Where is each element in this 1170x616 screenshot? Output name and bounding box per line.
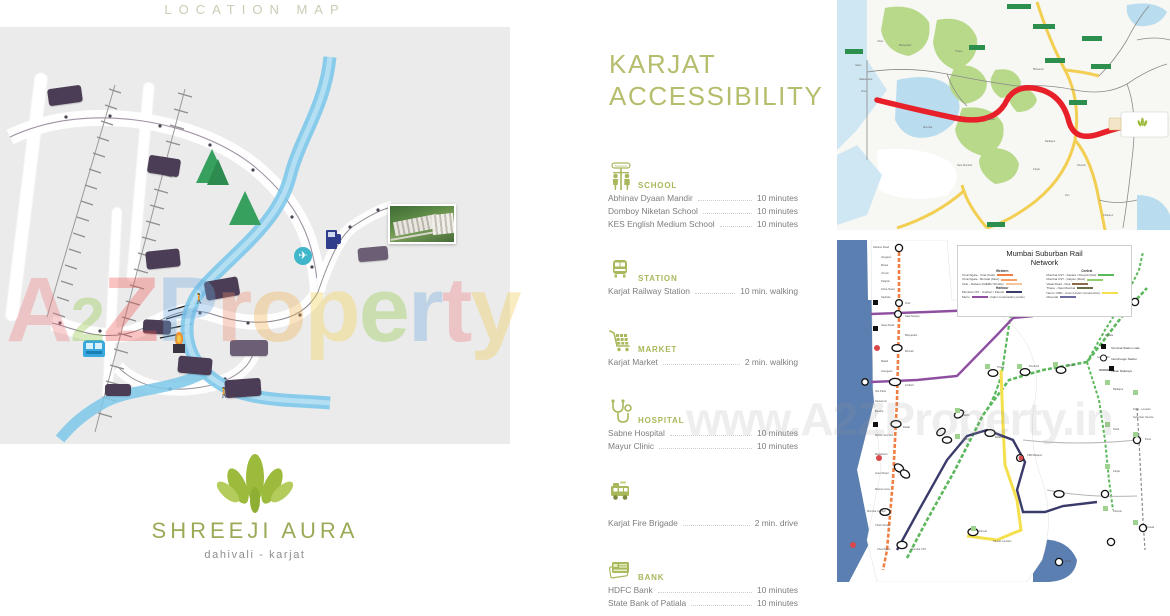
poi-time: 10 minutes: [757, 584, 798, 597]
tree-icon: [207, 159, 229, 185]
svg-text:Khalapur: Khalapur: [1103, 213, 1114, 217]
svg-text:Dahanu Road: Dahanu Road: [873, 245, 890, 249]
leader-dots: [703, 213, 752, 214]
svg-text:Navi Mumbai: Navi Mumbai: [957, 163, 973, 167]
rail-legend-title-line2: Network: [962, 258, 1127, 267]
svg-text:Santacruz: Santacruz: [875, 399, 887, 403]
poi-name: HDFC Bank: [608, 584, 653, 597]
building-block: [105, 384, 131, 396]
people-marker-icon: 🚶: [218, 389, 230, 399]
credit-card-icon: [608, 554, 634, 584]
leader-dots: [683, 525, 750, 526]
svg-text:Badlapur: Badlapur: [1113, 387, 1124, 391]
legend-swatch: [1001, 279, 1017, 281]
leader-dots: [698, 200, 752, 201]
legend-entry: Metro Under construction portion: [962, 295, 1043, 299]
project-name: SHREEJI AURA: [0, 518, 510, 544]
rail-legend-title: Mumbai Suburban Rail Network: [962, 249, 1127, 267]
svg-text:Boisar: Boisar: [881, 263, 888, 267]
shopping-cart-icon: [608, 326, 634, 356]
svg-text:Dombivli: Dombivli: [1029, 364, 1039, 368]
poi-name: Karjat Railway Station: [608, 285, 690, 298]
poi-name: KES English Medium School: [608, 218, 715, 231]
accessibility-title: KARJAT ACCESSIBILITY: [609, 48, 823, 112]
group-label: MARKET: [638, 345, 677, 356]
leaf-logo-icon: [0, 452, 510, 514]
stethoscope-icon: [608, 397, 634, 427]
svg-text:Bandra: Bandra: [875, 409, 884, 413]
leader-dots: [670, 435, 752, 436]
location-map-panel: LOCATION MAP: [0, 0, 560, 582]
accessibility-list: SCHOOL SCHOOL Abhinav Dyaan Mandir: [608, 160, 798, 616]
building-block: [145, 248, 181, 269]
svg-text:Vasai Road: Vasai Road: [881, 323, 895, 327]
svg-text:Belapur: Belapur: [995, 435, 1004, 439]
accessibility-panel: KARJAT ACCESSIBILITY SCHOOL: [560, 0, 837, 582]
group-header: STATION: [608, 253, 798, 285]
svg-text:Virar: Virar: [905, 301, 911, 305]
accessibility-group-bank: BANK HDFC Bank 10 minutes State Bank of …: [608, 552, 798, 610]
airport-icon: ✈: [294, 247, 312, 265]
svg-text:Kelve Road: Kelve Road: [881, 287, 895, 291]
svg-text:Titwala: Titwala: [1105, 333, 1114, 337]
rail-legend-title-line1: Mumbai Suburban Rail: [962, 249, 1127, 258]
svg-text:Vashi: Vashi: [963, 413, 970, 417]
svg-text:Interchange Station: Interchange Station: [1111, 357, 1137, 361]
svg-text:Churchgate: Churchgate: [877, 547, 891, 551]
svg-text:Terminal Station code: Terminal Station code: [1111, 346, 1140, 350]
svg-text:Grant Road: Grant Road: [875, 471, 889, 475]
svg-text:Pune: Pune: [1145, 437, 1152, 441]
mumbai-karjat-road-map: UttanBhayander VasaiNalasopara VirarThan…: [837, 0, 1170, 230]
svg-text:Mumbai CST: Mumbai CST: [911, 547, 927, 551]
poi-time: 10 minutes: [757, 205, 798, 218]
svg-text:Bhayander: Bhayander: [899, 43, 912, 47]
svg-text:Mahim Junction: Mahim Junction: [875, 433, 894, 437]
school-icon: SCHOOL: [608, 162, 634, 192]
accessibility-title-line1: KARJAT: [609, 48, 823, 80]
group-header: SCHOOL SCHOOL: [608, 160, 798, 192]
mumbai-suburban-rail-map: Dahanu RoadVangaon BoisarUmroli PalgharK…: [837, 240, 1170, 582]
maps-panel: UttanBhayander VasaiNalasopara VirarThan…: [837, 0, 1170, 582]
poi-time: 10 minutes: [757, 218, 798, 231]
legend-swatch: [1077, 287, 1093, 289]
accessibility-row: KES English Medium School 10 minutes: [608, 218, 798, 231]
legend-entry-label: Under construction portion: [990, 295, 1025, 299]
poi-time: 10 min. walking: [740, 285, 798, 298]
legend-entry: Monorail: [1047, 295, 1128, 299]
svg-text:Badlapur: Badlapur: [1045, 139, 1056, 143]
svg-text:Palghar: Palghar: [881, 279, 890, 283]
svg-text:SCHOOL: SCHOOL: [615, 164, 628, 168]
accessibility-row: Sabne Hospital 10 minutes: [608, 427, 798, 440]
legend-entry-label: Metro: [962, 295, 970, 299]
leader-dots: [658, 592, 752, 593]
legend-entry-label: Monorail: [1047, 295, 1059, 299]
poi-name: Karjat Market: [608, 356, 658, 369]
svg-text:Kalyan: Kalyan: [987, 117, 995, 121]
legend-column-central: Central Mumbai CST - Kasara / Khopoli (f…: [1047, 269, 1128, 299]
leader-dots: [691, 605, 752, 606]
legend-swatch: [1006, 283, 1022, 285]
svg-text:Khopoli: Khopoli: [1077, 163, 1086, 167]
group-header: BANK: [608, 552, 798, 584]
svg-text:Nerul: Nerul: [963, 437, 970, 441]
accessibility-row: Abhinav Dyaan Mandir 10 minutes: [608, 192, 798, 205]
svg-text:Pen: Pen: [1065, 193, 1070, 197]
map-graphics: ✈: [0, 27, 510, 444]
poi-time: 10 minutes: [757, 440, 798, 453]
building-block: [177, 356, 212, 376]
poi-name: State Bank of Patiala: [608, 597, 686, 610]
svg-text:Panvel Junction: Panvel Junction: [993, 539, 1012, 543]
svg-text:Nalasopara: Nalasopara: [859, 77, 873, 81]
accessibility-row: Karjat Fire Brigade 2 min. drive: [608, 517, 798, 530]
poi-name: Sabne Hospital: [608, 427, 665, 440]
svg-text:Borivali: Borivali: [905, 349, 914, 353]
accessibility-title-line2: ACCESSIBILITY: [609, 80, 823, 112]
location-map-title: LOCATION MAP: [0, 2, 510, 17]
accessibility-row: HDFC Bank 10 minutes: [608, 584, 798, 597]
leader-dots: [695, 293, 735, 294]
legend-column-western: Western Churchgate - Virar (Fast) Church…: [962, 269, 1043, 299]
location-map-canvas: ✈: [0, 27, 510, 444]
legend-swatch: [1098, 274, 1114, 276]
accessibility-group-market: MARKET Karjat Market 2 min. walking: [608, 324, 798, 369]
svg-text:Suburban Service: Suburban Service: [1133, 415, 1154, 419]
svg-text:Mumbai: Mumbai: [923, 125, 933, 129]
svg-text:Thane: Thane: [997, 365, 1005, 369]
svg-text:Roha: Roha: [1065, 559, 1072, 563]
svg-text:Karjat: Karjat: [1033, 167, 1040, 171]
fuel-station-icon: [326, 227, 343, 249]
svg-text:Vile Parle: Vile Parle: [875, 389, 887, 393]
group-label: BANK: [638, 573, 664, 584]
legend-swatch: [1087, 279, 1103, 281]
svg-text:Vasai: Vasai: [855, 63, 862, 67]
legend-swatch: [997, 274, 1013, 276]
train-station-icon: [608, 255, 634, 285]
svg-text:Bhiwandi: Bhiwandi: [1033, 67, 1044, 71]
svg-text:Karjat: Karjat: [1113, 469, 1120, 473]
accessibility-group-school: SCHOOL SCHOOL Abhinav Dyaan Mandir: [608, 160, 798, 231]
svg-text:Malad: Malad: [881, 359, 889, 363]
poi-time: 10 minutes: [757, 427, 798, 440]
accessibility-row: State Bank of Patiala 10 minutes: [608, 597, 798, 610]
svg-text:Neral: Neral: [1113, 427, 1120, 431]
poi-time: 10 minutes: [757, 597, 798, 610]
group-header: HOSPITAL: [608, 395, 798, 427]
legend-swatch: [1006, 291, 1022, 293]
group-label: SCHOOL: [638, 181, 677, 192]
accessibility-group-fire: Karjat Fire Brigade 2 min. drive: [608, 475, 798, 530]
legend-swatch: [1060, 296, 1076, 298]
svg-text:Andheri: Andheri: [905, 383, 914, 387]
leader-dots: [663, 364, 740, 365]
railway-station-icon: [83, 340, 105, 360]
building-block: [357, 246, 388, 263]
legend-swatch: [1102, 292, 1118, 294]
poi-time: 10 minutes: [757, 192, 798, 205]
svg-text:Umroli: Umroli: [881, 271, 889, 275]
accessibility-row: Mayur Clinic 10 minutes: [608, 440, 798, 453]
svg-text:CBD Belapur: CBD Belapur: [1027, 453, 1042, 457]
people-marker-icon: 🚶: [193, 295, 205, 305]
svg-text:Lonavla: Lonavla: [1145, 525, 1155, 529]
project-logo: SHREEJI AURA dahivali - karjat: [0, 452, 510, 561]
poi-name: Karjat Fire Brigade: [608, 517, 678, 530]
group-label: HOSPITAL: [638, 416, 684, 427]
poi-name: Abhinav Dyaan Mandir: [608, 192, 693, 205]
svg-text:Mahalaxmi: Mahalaxmi: [875, 452, 888, 456]
accessibility-group-hospital: HOSPITAL Sabne Hospital 10 minutes Mayur…: [608, 395, 798, 453]
accessibility-row: Karjat Market 2 min. walking: [608, 356, 798, 369]
temple-icon: [172, 332, 186, 354]
building-block: [143, 319, 172, 334]
accessibility-group-station: STATION Karjat Railway Station 10 min. w…: [608, 253, 798, 298]
svg-text:Vangaon: Vangaon: [881, 255, 892, 259]
svg-text:Thane: Thane: [955, 49, 963, 53]
svg-text:Kalyan: Kalyan: [1067, 363, 1075, 367]
svg-text:Indian Railways: Indian Railways: [1111, 369, 1133, 373]
poi-time: 2 min. drive: [755, 517, 798, 530]
tree-icon: [229, 191, 261, 225]
poi-name: Domboy Niketan School: [608, 205, 698, 218]
svg-text:Khopoli: Khopoli: [1113, 509, 1122, 513]
legend-swatch: [972, 296, 988, 298]
svg-text:Bhayander: Bhayander: [905, 333, 918, 337]
svg-text:Charni Road: Charni Road: [875, 523, 890, 527]
brochure-page: LOCATION MAP: [0, 0, 1170, 582]
project-tagline: dahivali - karjat: [0, 549, 510, 561]
fire-truck-icon: [608, 477, 634, 507]
group-header: [608, 475, 798, 507]
legend-columns: Western Churchgate - Virar (Fast) Church…: [962, 269, 1127, 299]
legend-swatch: [1072, 283, 1088, 285]
group-label: STATION: [638, 274, 678, 285]
project-photo-inset: [388, 204, 456, 244]
svg-text:Mumbai Central: Mumbai Central: [867, 509, 886, 513]
svg-text:Pune - Lonavla: Pune - Lonavla: [1133, 407, 1151, 411]
poi-time: 2 min. walking: [745, 356, 798, 369]
svg-text:Panvel: Panvel: [979, 529, 987, 533]
building-block: [230, 340, 268, 356]
accessibility-row: Domboy Niketan School 10 minutes: [608, 205, 798, 218]
poi-name: Mayur Clinic: [608, 440, 654, 453]
leader-dots: [720, 226, 752, 227]
svg-text:Dadar: Dadar: [903, 425, 910, 429]
svg-text:Saphale: Saphale: [881, 295, 891, 299]
svg-text:Goregaon: Goregaon: [881, 369, 893, 373]
svg-text:Uttan: Uttan: [877, 39, 884, 43]
leader-dots: [659, 448, 752, 449]
accessibility-row: Karjat Railway Station 10 min. walking: [608, 285, 798, 298]
group-header: MARKET: [608, 324, 798, 356]
svg-text:Nala Sopara: Nala Sopara: [905, 314, 920, 318]
svg-text:Marine Lines: Marine Lines: [875, 487, 891, 491]
svg-text:Virar: Virar: [861, 89, 867, 93]
rail-legend-box: Mumbai Suburban Rail Network Western Chu…: [957, 245, 1132, 317]
